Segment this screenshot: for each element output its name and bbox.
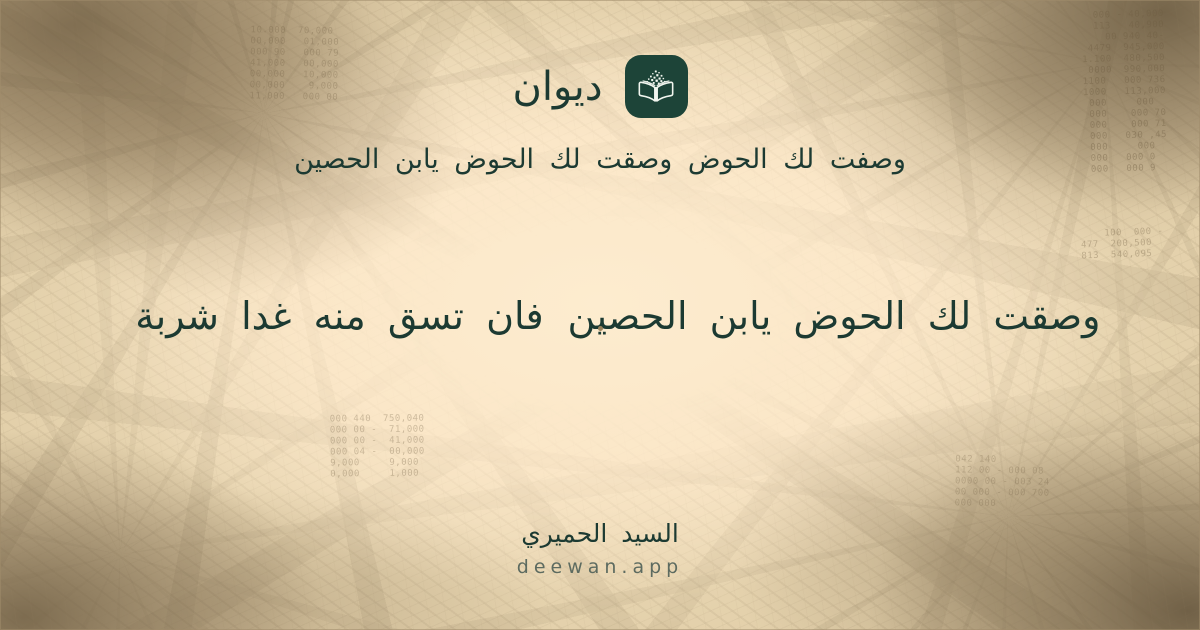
open-book-sparkles-icon	[625, 55, 688, 118]
hemistich-right: وصقت لك الحوض يابن الحصين	[621, 288, 1101, 345]
brand-name: ديوان	[512, 67, 602, 107]
poet-name: السيد الحميري	[521, 519, 679, 549]
card-footer: السيد الحميري deewan.app	[0, 519, 1200, 578]
site-url[interactable]: deewan.app	[517, 556, 683, 578]
verse-line: وصقت لك الحوض يابن الحصين فان تسق منه غد…	[0, 288, 1200, 345]
brand-header: ديوان	[512, 55, 687, 118]
hemistich-separator-dot	[598, 326, 603, 331]
card-content: ديوان وصفت لك الحوض وصقت لك الحوض يابن ا…	[0, 0, 1200, 630]
poem-card: 40,000 - 000 40,900 113 -40 940 00 945,0…	[0, 0, 1200, 630]
hemistich-left: فان تسق منه غدا شربة	[100, 288, 580, 345]
poem-title: وصفت لك الحوض وصقت لك الحوض يابن الحصين	[294, 142, 906, 178]
